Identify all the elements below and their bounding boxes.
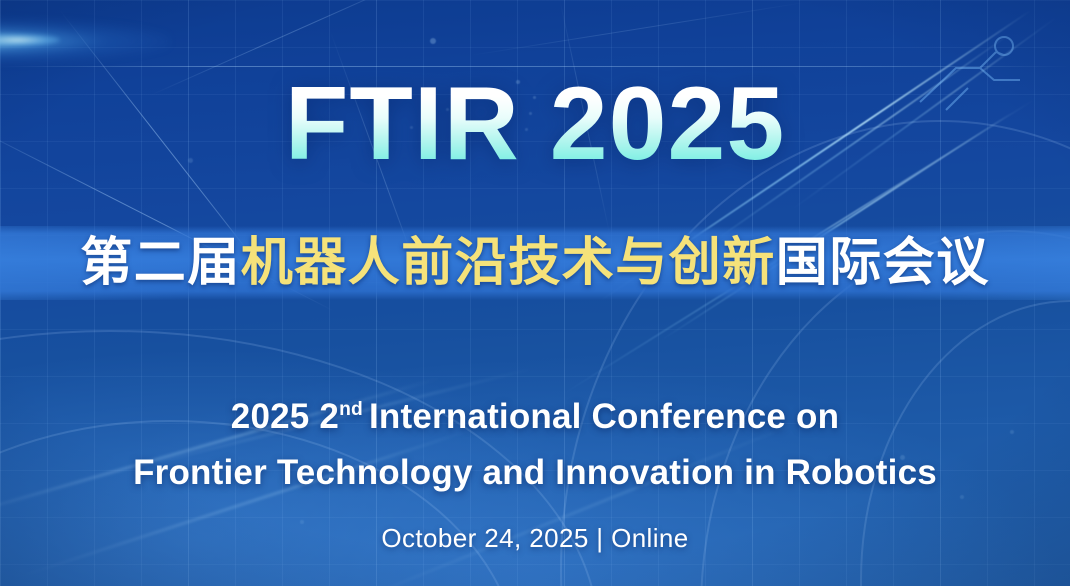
conference-banner: FTIR 2025 第二届机器人前沿技术与创新国际会议 2025 2ndInte… bbox=[0, 0, 1070, 586]
english-title-line-1: 2025 2ndInternational Conference on bbox=[133, 389, 937, 445]
english-title-line-1-suffix: International Conference on bbox=[369, 397, 839, 436]
conference-english-title: 2025 2ndInternational Conference on Fron… bbox=[133, 389, 937, 501]
chinese-title-part-2: 机器人前沿技术与创新 bbox=[241, 233, 776, 293]
conference-acronym-title: FTIR 2025 bbox=[285, 72, 785, 176]
banner-content: FTIR 2025 第二届机器人前沿技术与创新国际会议 2025 2ndInte… bbox=[0, 0, 1070, 586]
conference-date-location: October 24, 2025 | Online bbox=[381, 523, 688, 554]
english-title-line-1-prefix: 2025 2 bbox=[231, 397, 339, 436]
conference-chinese-title: 第二届机器人前沿技术与创新国际会议 bbox=[0, 228, 1070, 298]
chinese-title-part-1: 第二届 bbox=[80, 233, 241, 293]
english-title-line-2: Frontier Technology and Innovation in Ro… bbox=[133, 445, 937, 501]
chinese-title-part-3: 国际会议 bbox=[776, 233, 990, 293]
ordinal-superscript: nd bbox=[339, 399, 363, 420]
